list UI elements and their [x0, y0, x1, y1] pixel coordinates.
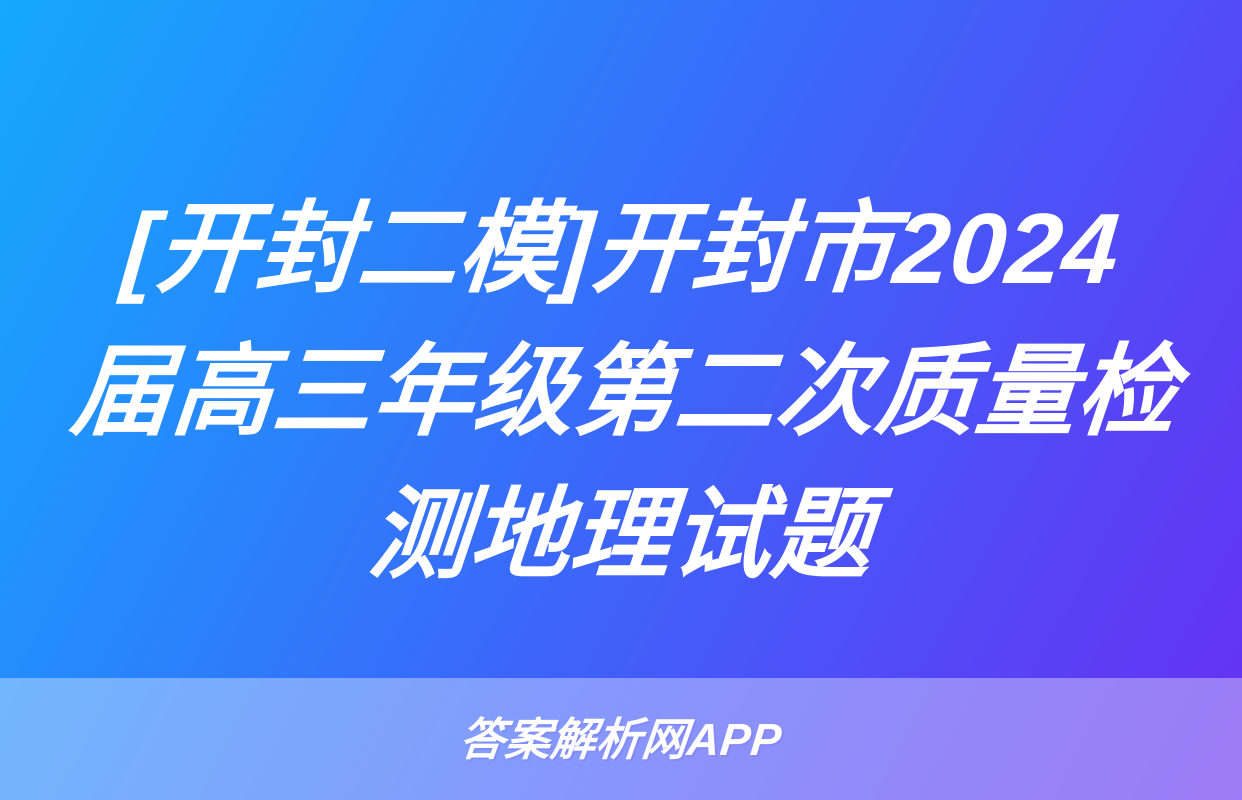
watermark-brand-label: 答案解析网APP — [458, 717, 784, 762]
page-title: [开封二模]开封市2024 届高三年级第二次质量检 测地理试题 — [0, 178, 1242, 607]
title-line-1: [开封二模]开封市2024 — [66, 178, 1177, 321]
watermark-band: 答案解析网APP — [0, 678, 1242, 800]
exam-title-poster: [开封二模]开封市2024 届高三年级第二次质量检 测地理试题 答案解析网APP — [0, 0, 1242, 800]
title-line-2: 届高三年级第二次质量检 — [66, 321, 1177, 464]
title-line-3: 测地理试题 — [66, 464, 1177, 607]
